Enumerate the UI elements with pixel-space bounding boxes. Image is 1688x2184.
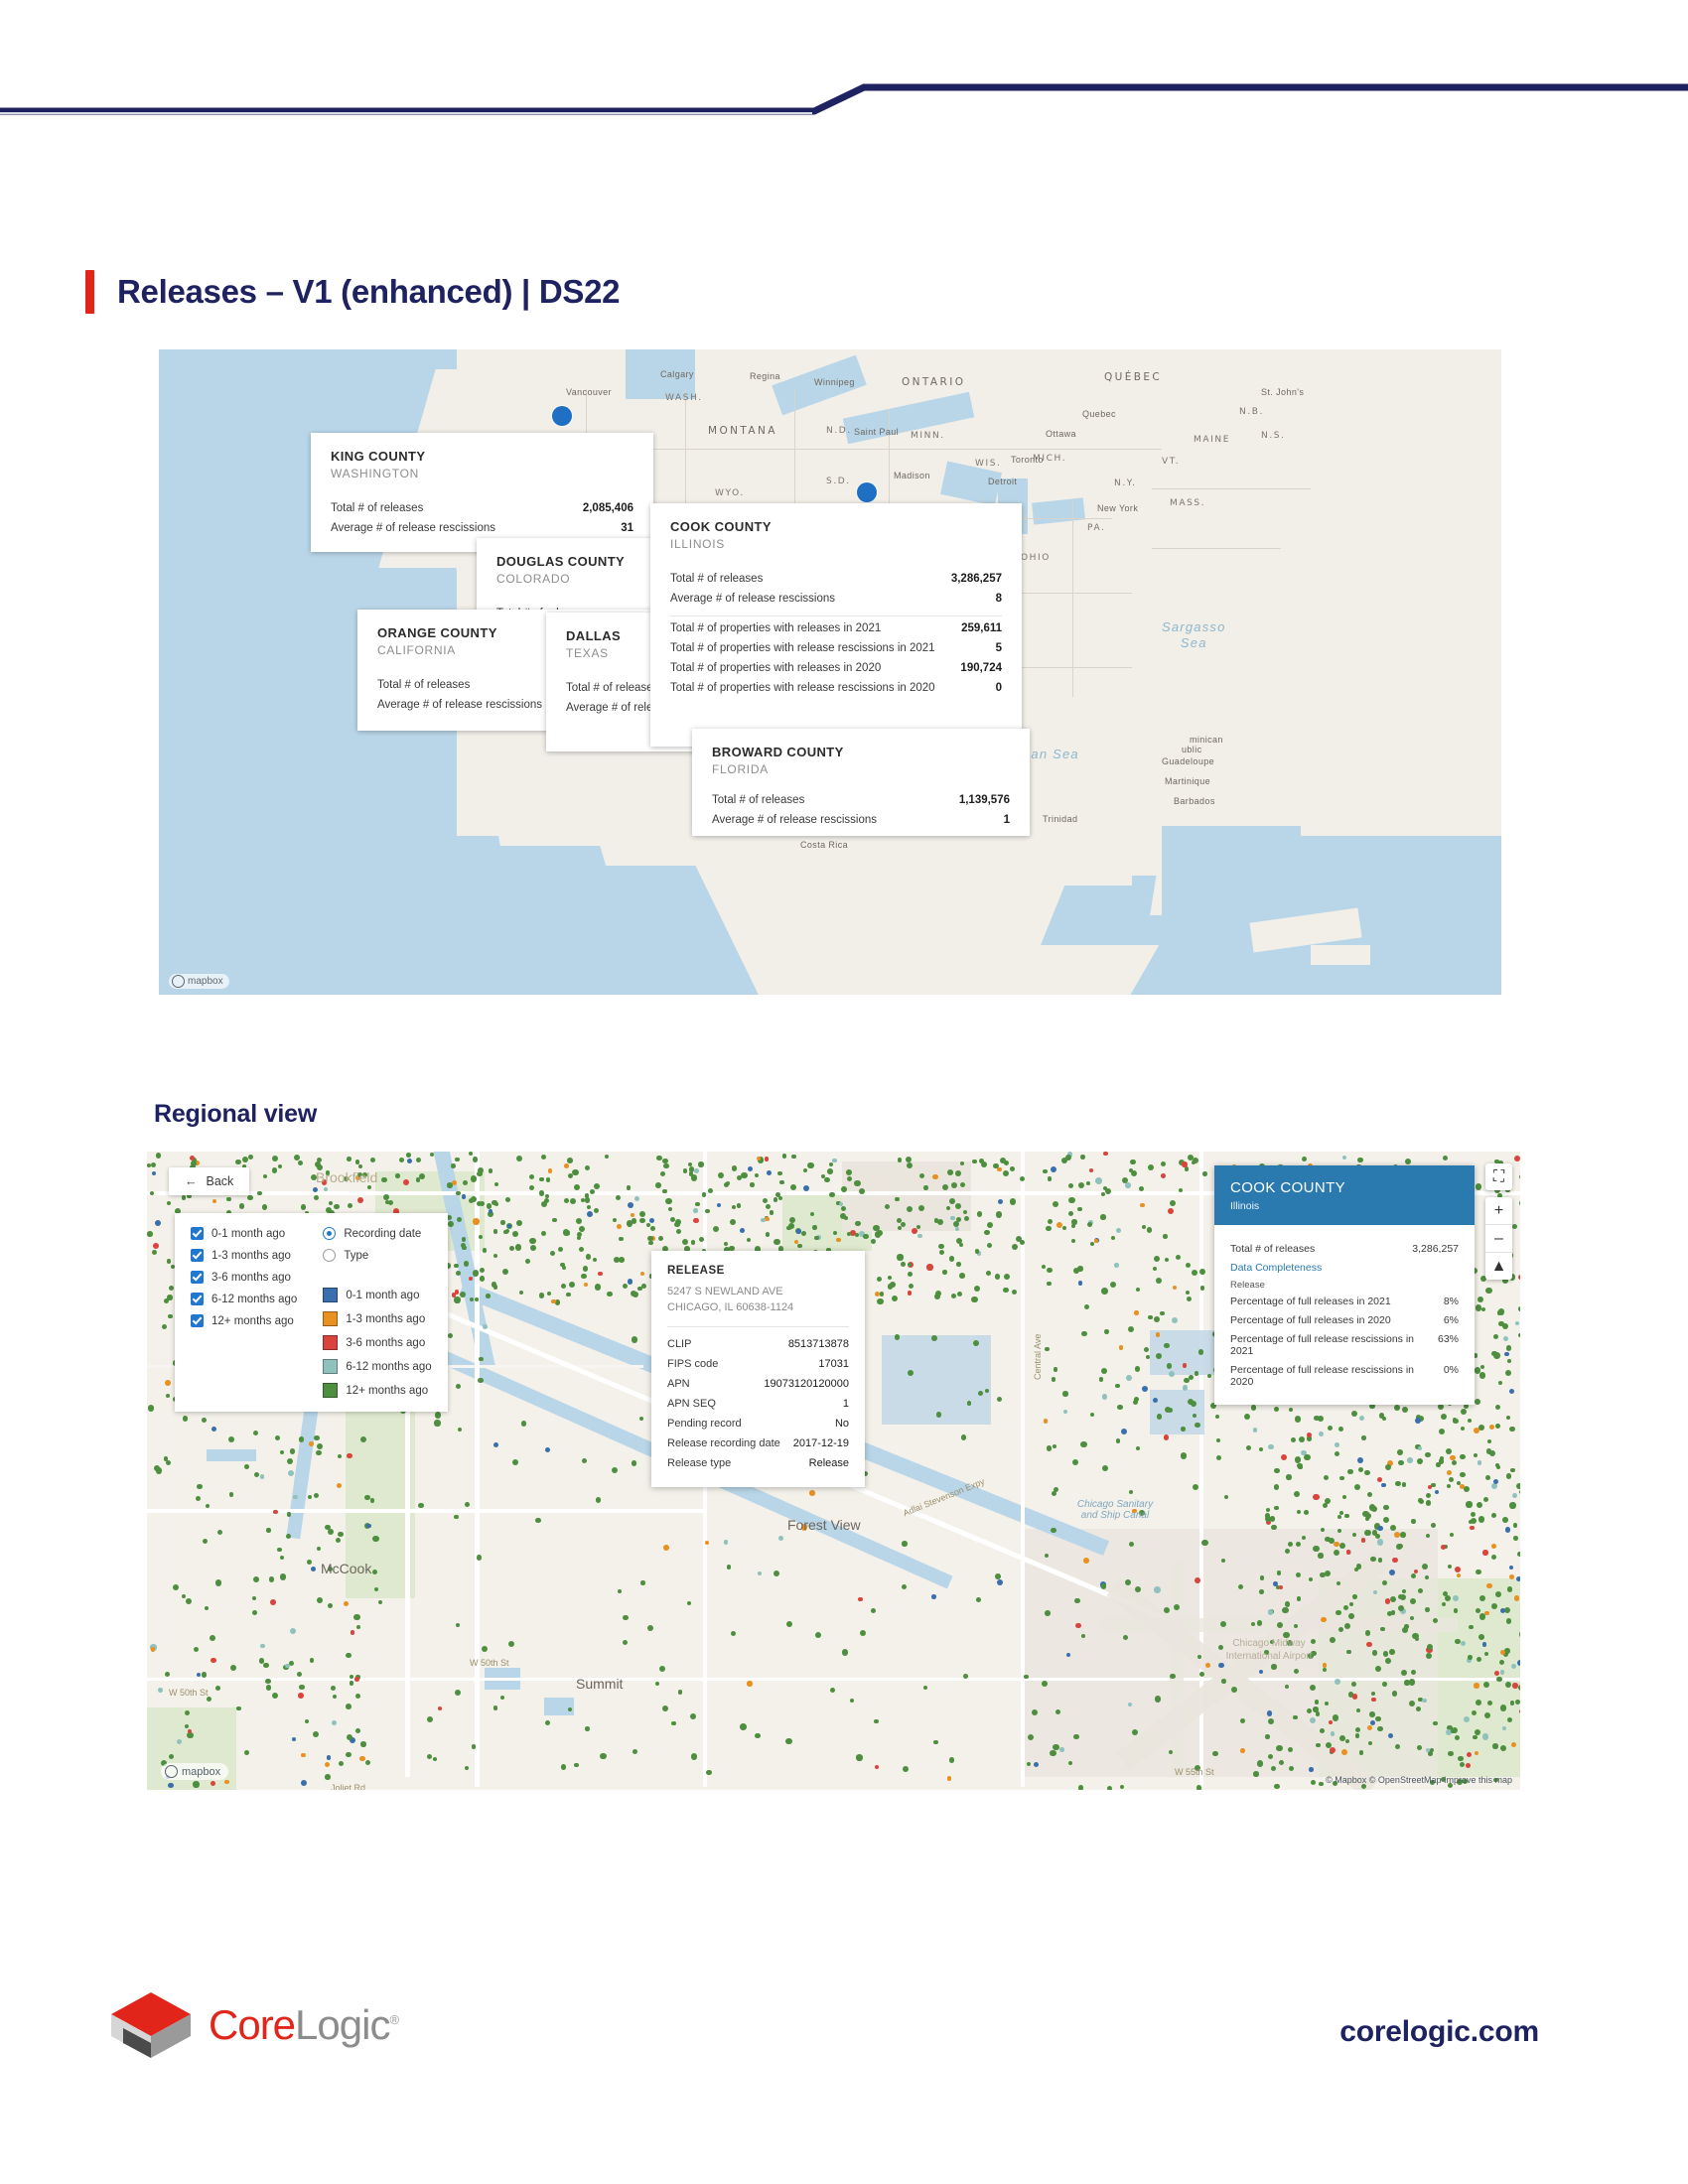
completeness-value: 6% <box>1444 1314 1459 1326</box>
map-controls[interactable]: ⛶ + – ▲ <box>1485 1163 1512 1280</box>
mapbox-logo-icon <box>165 1765 178 1778</box>
county-state: FLORIDA <box>712 762 1010 776</box>
county-popup-broward[interactable]: BROWARD COUNTY FLORIDA Total # of releas… <box>692 729 1030 836</box>
detail-row: Release recording date 2017-12-19 <box>667 1433 849 1453</box>
mapbox-attribution-label: mapbox <box>188 976 223 987</box>
stat-row: Total # of properties with release resci… <box>670 678 1002 698</box>
checkbox-item[interactable]: 6-12 months ago <box>191 1293 297 1305</box>
map-label-summit: Summit <box>576 1676 623 1692</box>
map-city-toronto: Toronto <box>1011 455 1044 465</box>
detail-value: Release <box>809 1457 849 1469</box>
stat-value: 31 <box>621 522 633 534</box>
checkbox-item[interactable]: 12+ months ago <box>191 1314 297 1327</box>
stat-row: Total # of properties with releases in 2… <box>670 658 1002 678</box>
map-city-ottawa: Ottawa <box>1046 429 1076 439</box>
compass-icon[interactable]: ▲ <box>1485 1253 1512 1280</box>
map-label-nb: N.B. <box>1239 407 1264 417</box>
map-label-ny: N.Y. <box>1114 478 1137 488</box>
detail-row: Release type Release <box>667 1453 849 1473</box>
detail-label: Release recording date <box>667 1437 780 1449</box>
map-label-ontario: ONTARIO <box>902 376 965 388</box>
checkbox-label: 0-1 month ago <box>211 1228 285 1240</box>
completeness-label: Percentage of full release rescissions i… <box>1230 1333 1430 1357</box>
swatch-label: 6-12 months ago <box>346 1361 431 1373</box>
back-button[interactable]: ← Back <box>169 1167 249 1195</box>
map-city-martinique: Martinique <box>1165 776 1210 786</box>
stat-value: 8 <box>996 593 1002 605</box>
map-label-w55th: W 55th St <box>1175 1767 1214 1777</box>
stat-row: Average # of release rescissions 1 <box>712 810 1010 830</box>
header-decoration <box>0 0 1688 119</box>
county-state: WASHINGTON <box>331 467 633 480</box>
stat-label: Average # of release rescissions <box>712 814 877 826</box>
map-label-quebec-prov: QUÉBEC <box>1104 371 1162 383</box>
map-label-ns: N.S. <box>1261 431 1286 441</box>
county-name: COOK COUNTY <box>670 519 1002 534</box>
address-line-2: CHICAGO, IL 60638-1124 <box>667 1300 849 1316</box>
stat-label: Average # of release rescissions <box>331 522 495 534</box>
stat-value: 1,139,576 <box>959 794 1010 806</box>
map-label-sd: S.D. <box>826 477 851 486</box>
checkbox-item[interactable]: 0-1 month ago <box>191 1227 297 1240</box>
page-title-row: Releases – V1 (enhanced) | DS22 <box>85 270 620 314</box>
checkbox-label: 1-3 months ago <box>211 1250 291 1262</box>
regional-map[interactable]: ← Back Brookfield Stickney Forest View M… <box>147 1152 1520 1790</box>
radio-label: Type <box>344 1250 368 1262</box>
wordmark-trademark: ® <box>389 2012 398 2027</box>
checkbox-item[interactable]: 1-3 months ago <box>191 1249 297 1262</box>
map-marker-cook-county[interactable] <box>857 482 877 502</box>
release-popup-header: RELEASE <box>667 1265 849 1277</box>
completeness-label: Percentage of full release rescissions i… <box>1230 1364 1436 1388</box>
legend-swatch-item: 12+ months ago <box>323 1383 431 1398</box>
mapbox-logo-icon <box>172 975 185 988</box>
stat-value: 259,611 <box>961 622 1002 634</box>
county-info-state: Illinois <box>1230 1200 1459 1212</box>
wordmark-logic: Logic <box>295 2001 389 2048</box>
title-accent-bar <box>85 270 94 314</box>
color-swatch-icon <box>323 1335 338 1350</box>
stat-label: Total # of properties with releases in 2… <box>670 662 881 674</box>
map-label-mccook: McCook <box>321 1561 371 1576</box>
detail-row: FIPS code 17031 <box>667 1354 849 1374</box>
stat-label: Total # of properties with releases in 2… <box>670 622 881 634</box>
map-city-trinidad: Trinidad <box>1043 814 1077 824</box>
detail-value: 1 <box>843 1398 849 1410</box>
corelogic-logo-mark-icon <box>109 1990 193 2060</box>
stat-label: Total # of releases <box>377 679 470 691</box>
legend-swatch-item: 3-6 months ago <box>323 1335 431 1350</box>
map-city-barbados: Barbados <box>1174 796 1215 806</box>
stat-label: Total # of releases <box>670 573 763 585</box>
checkbox-icon[interactable] <box>191 1293 204 1305</box>
zoom-out-button[interactable]: – <box>1485 1225 1512 1253</box>
stat-label: Total # of properties with release resci… <box>670 642 935 654</box>
map-city-saint-paul: Saint Paul <box>854 427 899 437</box>
stat-label: Total # of properties with release resci… <box>670 682 935 694</box>
completeness-value: 63% <box>1438 1333 1459 1357</box>
fullscreen-icon[interactable]: ⛶ <box>1485 1163 1512 1190</box>
map-label-minn: MINN. <box>911 431 945 441</box>
stat-value: 0 <box>996 682 1002 694</box>
completeness-row: Percentage of full release rescissions i… <box>1230 1329 1459 1360</box>
map-city-regina: Regina <box>750 371 780 381</box>
stat-label: Average # of release rescissions <box>377 699 542 711</box>
completeness-row: Percentage of full release rescissions i… <box>1230 1360 1459 1391</box>
completeness-label: Percentage of full releases in 2021 <box>1230 1296 1391 1307</box>
fullscreen-control-group[interactable]: ⛶ <box>1485 1163 1512 1190</box>
radio-item-type[interactable]: Type <box>323 1249 431 1262</box>
detail-row: APN 19073120120000 <box>667 1374 849 1394</box>
stat-row: Total # of releases 1,139,576 <box>712 790 1010 810</box>
map-city-madison: Madison <box>894 471 930 480</box>
corelogic-logo: CoreLogic® <box>109 1990 398 2060</box>
county-total-value: 3,286,257 <box>1412 1243 1459 1255</box>
stat-value: 5 <box>996 642 1002 654</box>
detail-label: APN <box>667 1378 690 1390</box>
county-popup-king[interactable]: KING COUNTY WASHINGTON Total # of releas… <box>311 433 653 552</box>
detail-label: APN SEQ <box>667 1398 716 1410</box>
mapbox-attribution[interactable]: mapbox <box>169 974 229 989</box>
detail-row: CLIP 8513713878 <box>667 1334 849 1354</box>
checkbox-item[interactable]: 3-6 months ago <box>191 1271 297 1284</box>
map-sea-caribbean: ean Sea <box>1023 747 1079 762</box>
map-label-brookfield: Brookfield <box>316 1169 377 1185</box>
map-label-joliet-rd: Joliet Rd <box>331 1783 365 1790</box>
stat-row: Total # of properties with releases in 2… <box>670 618 1002 638</box>
stat-label: Total # of releases <box>566 682 658 694</box>
map-city-calgary: Calgary <box>660 369 694 379</box>
detail-value: 2017-12-19 <box>793 1437 849 1449</box>
filter-legend-panel[interactable]: 0-1 month ago 1-3 months ago 3-6 months … <box>175 1213 448 1412</box>
checkbox-icon[interactable] <box>191 1227 204 1240</box>
map-label-central-ave: Central Ave <box>1033 1334 1043 1380</box>
stat-row: Total # of releases 3,286,257 <box>670 569 1002 589</box>
county-info-name: COOK COUNTY <box>1230 1179 1459 1196</box>
color-swatch-icon <box>323 1359 338 1374</box>
map-city-quebec: Quebec <box>1082 409 1116 419</box>
address-line-1: 5247 S NEWLAND AVE <box>667 1285 849 1300</box>
county-popup-cook[interactable]: COOK COUNTY ILLINOIS Total # of releases… <box>650 503 1022 747</box>
legend-swatch-item: 6-12 months ago <box>323 1359 431 1374</box>
map-city-dominican: minican <box>1190 735 1223 745</box>
stat-label: Total # of releases <box>712 794 804 806</box>
detail-label: FIPS code <box>667 1358 718 1370</box>
swatch-label: 3-6 months ago <box>346 1337 425 1349</box>
detail-value: 19073120120000 <box>764 1378 849 1390</box>
stat-row: Average # of release rescissions 31 <box>331 518 633 538</box>
map-label-nd: N.D. <box>826 426 852 436</box>
map-label-montana: MONTANA <box>708 425 777 437</box>
map-label-mass: MASS. <box>1170 498 1205 508</box>
legend-swatch-item: 1-3 months ago <box>323 1311 431 1326</box>
data-completeness-label: Data Completeness <box>1230 1258 1459 1277</box>
map-label-ohio: OHIO <box>1021 553 1051 563</box>
swatch-label: 0-1 month ago <box>346 1290 419 1301</box>
color-swatch-icon <box>323 1383 338 1398</box>
county-name: BROWARD COUNTY <box>712 745 1010 759</box>
map-label-w50th: W 50th St <box>470 1658 509 1668</box>
county-name: KING COUNTY <box>331 449 633 464</box>
map-sea-sargasso: SargassoSea <box>1162 619 1226 652</box>
completeness-value: 8% <box>1444 1296 1459 1307</box>
release-group-label: Release <box>1230 1277 1459 1292</box>
map-city-winnipeg: Winnipeg <box>814 377 855 387</box>
radio-item-recording-date[interactable]: Recording date <box>323 1227 431 1240</box>
checkbox-column: 0-1 month ago 1-3 months ago 3-6 months … <box>191 1227 297 1398</box>
map-label-midway-airport: Chicago MidwayInternational Airport <box>1180 1638 1358 1663</box>
color-swatch-icon <box>323 1311 338 1326</box>
detail-value: No <box>835 1418 849 1430</box>
stat-row: Total # of releases 2,085,406 <box>331 498 633 518</box>
map-label-maine: MAINE <box>1194 435 1230 445</box>
map-city-guadeloupe: Guadeloupe <box>1162 756 1214 766</box>
legend-swatch-item: 0-1 month ago <box>323 1288 431 1302</box>
county-total-row: Total # of releases 3,286,257 <box>1230 1239 1459 1258</box>
stat-label: Average # of release rescissions <box>670 593 835 605</box>
zoom-in-button[interactable]: + <box>1485 1197 1512 1225</box>
divider <box>670 615 1002 616</box>
radio-label: Recording date <box>344 1228 421 1240</box>
stat-value: 2,085,406 <box>583 502 633 514</box>
checkbox-icon[interactable] <box>191 1314 204 1327</box>
back-button-label: Back <box>207 1174 234 1188</box>
stat-value: 1 <box>1004 814 1010 826</box>
color-swatch-icon <box>323 1288 338 1302</box>
map-label-vt: VT. <box>1162 457 1180 467</box>
arrow-left-icon: ← <box>185 1174 198 1188</box>
checkbox-label: 12+ months ago <box>211 1315 294 1327</box>
map-city-republic: ublic <box>1182 745 1202 754</box>
radio-icon[interactable] <box>323 1227 336 1240</box>
map-city-newyork: New York <box>1097 503 1138 513</box>
completeness-value: 0% <box>1444 1364 1459 1388</box>
county-info-card[interactable]: COOK COUNTY Illinois Total # of releases… <box>1214 1165 1475 1405</box>
map-label-wis: WIS. <box>975 459 1002 469</box>
release-address: 5247 S NEWLAND AVE CHICAGO, IL 60638-112… <box>667 1285 849 1316</box>
detail-label: Release type <box>667 1457 731 1469</box>
county-info-header: COOK COUNTY Illinois <box>1214 1165 1475 1225</box>
checkbox-icon[interactable] <box>191 1249 204 1262</box>
map-label-wash: WASH. <box>665 393 703 403</box>
checkbox-label: 3-6 months ago <box>211 1272 291 1284</box>
completeness-label: Percentage of full releases in 2020 <box>1230 1314 1391 1326</box>
radio-icon[interactable] <box>323 1249 336 1262</box>
map-city-vancouver: Vancouver <box>566 387 612 397</box>
zoom-control-group[interactable]: + – ▲ <box>1485 1197 1512 1280</box>
national-map[interactable]: MONTANA N.D. S.D. NEBR. IOWA MINN. WIS. … <box>159 349 1501 995</box>
detail-label: Pending record <box>667 1418 742 1430</box>
detail-row: Pending record No <box>667 1414 849 1433</box>
stat-value: 190,724 <box>960 662 1002 674</box>
completeness-row: Percentage of full releases in 2021 8% <box>1230 1292 1459 1310</box>
footer-url[interactable]: corelogic.com <box>1339 2015 1539 2049</box>
completeness-row: Percentage of full releases in 2020 6% <box>1230 1310 1459 1329</box>
stat-row: Total # of properties with release resci… <box>670 638 1002 658</box>
stat-row: Average # of release rescissions 8 <box>670 589 1002 609</box>
map-label-w50th-2: W 50th St <box>169 1688 209 1698</box>
detail-label: CLIP <box>667 1338 691 1350</box>
stat-label: Total # of releases <box>331 502 423 514</box>
page-title: Releases – V1 (enhanced) | DS22 <box>117 273 620 311</box>
corelogic-wordmark: CoreLogic® <box>209 2001 398 2049</box>
map-label-forest-view: Forest View <box>787 1517 861 1533</box>
detail-value: 17031 <box>818 1358 849 1370</box>
swatch-label: 1-3 months ago <box>346 1313 425 1325</box>
wordmark-core: Core <box>209 2001 295 2048</box>
detail-value: 8513713878 <box>788 1338 849 1350</box>
map-label-wyo: WYO. <box>715 488 745 498</box>
legend-right-column: Recording date Type 0-1 month ago 1-3 mo… <box>323 1227 431 1398</box>
map-label-ship-canal: Chicago Sanitaryand Ship Canal <box>1046 1499 1185 1521</box>
map-city-st-johns: St. John's <box>1261 387 1304 397</box>
map-city-detroit: Detroit <box>988 477 1017 486</box>
swatch-label: 12+ months ago <box>346 1385 428 1397</box>
county-total-label: Total # of releases <box>1230 1243 1315 1255</box>
county-state: ILLINOIS <box>670 537 1002 551</box>
map-label-pa: PA. <box>1087 523 1106 533</box>
checkbox-icon[interactable] <box>191 1271 204 1284</box>
mapbox-logo[interactable]: mapbox <box>161 1763 228 1780</box>
section-heading: Regional view <box>154 1100 317 1129</box>
mapbox-logo-label: mapbox <box>182 1766 220 1778</box>
detail-row: APN SEQ 1 <box>667 1394 849 1414</box>
map-marker-king-county[interactable] <box>552 406 572 426</box>
checkbox-label: 6-12 months ago <box>211 1294 297 1305</box>
release-detail-popup[interactable]: RELEASE 5247 S NEWLAND AVE CHICAGO, IL 6… <box>651 1251 865 1487</box>
map-attribution[interactable]: © Mapbox © OpenStreetMap Improve this ma… <box>1326 1775 1512 1785</box>
map-city-costarica: Costa Rica <box>800 840 848 850</box>
stat-value: 3,286,257 <box>951 573 1002 585</box>
